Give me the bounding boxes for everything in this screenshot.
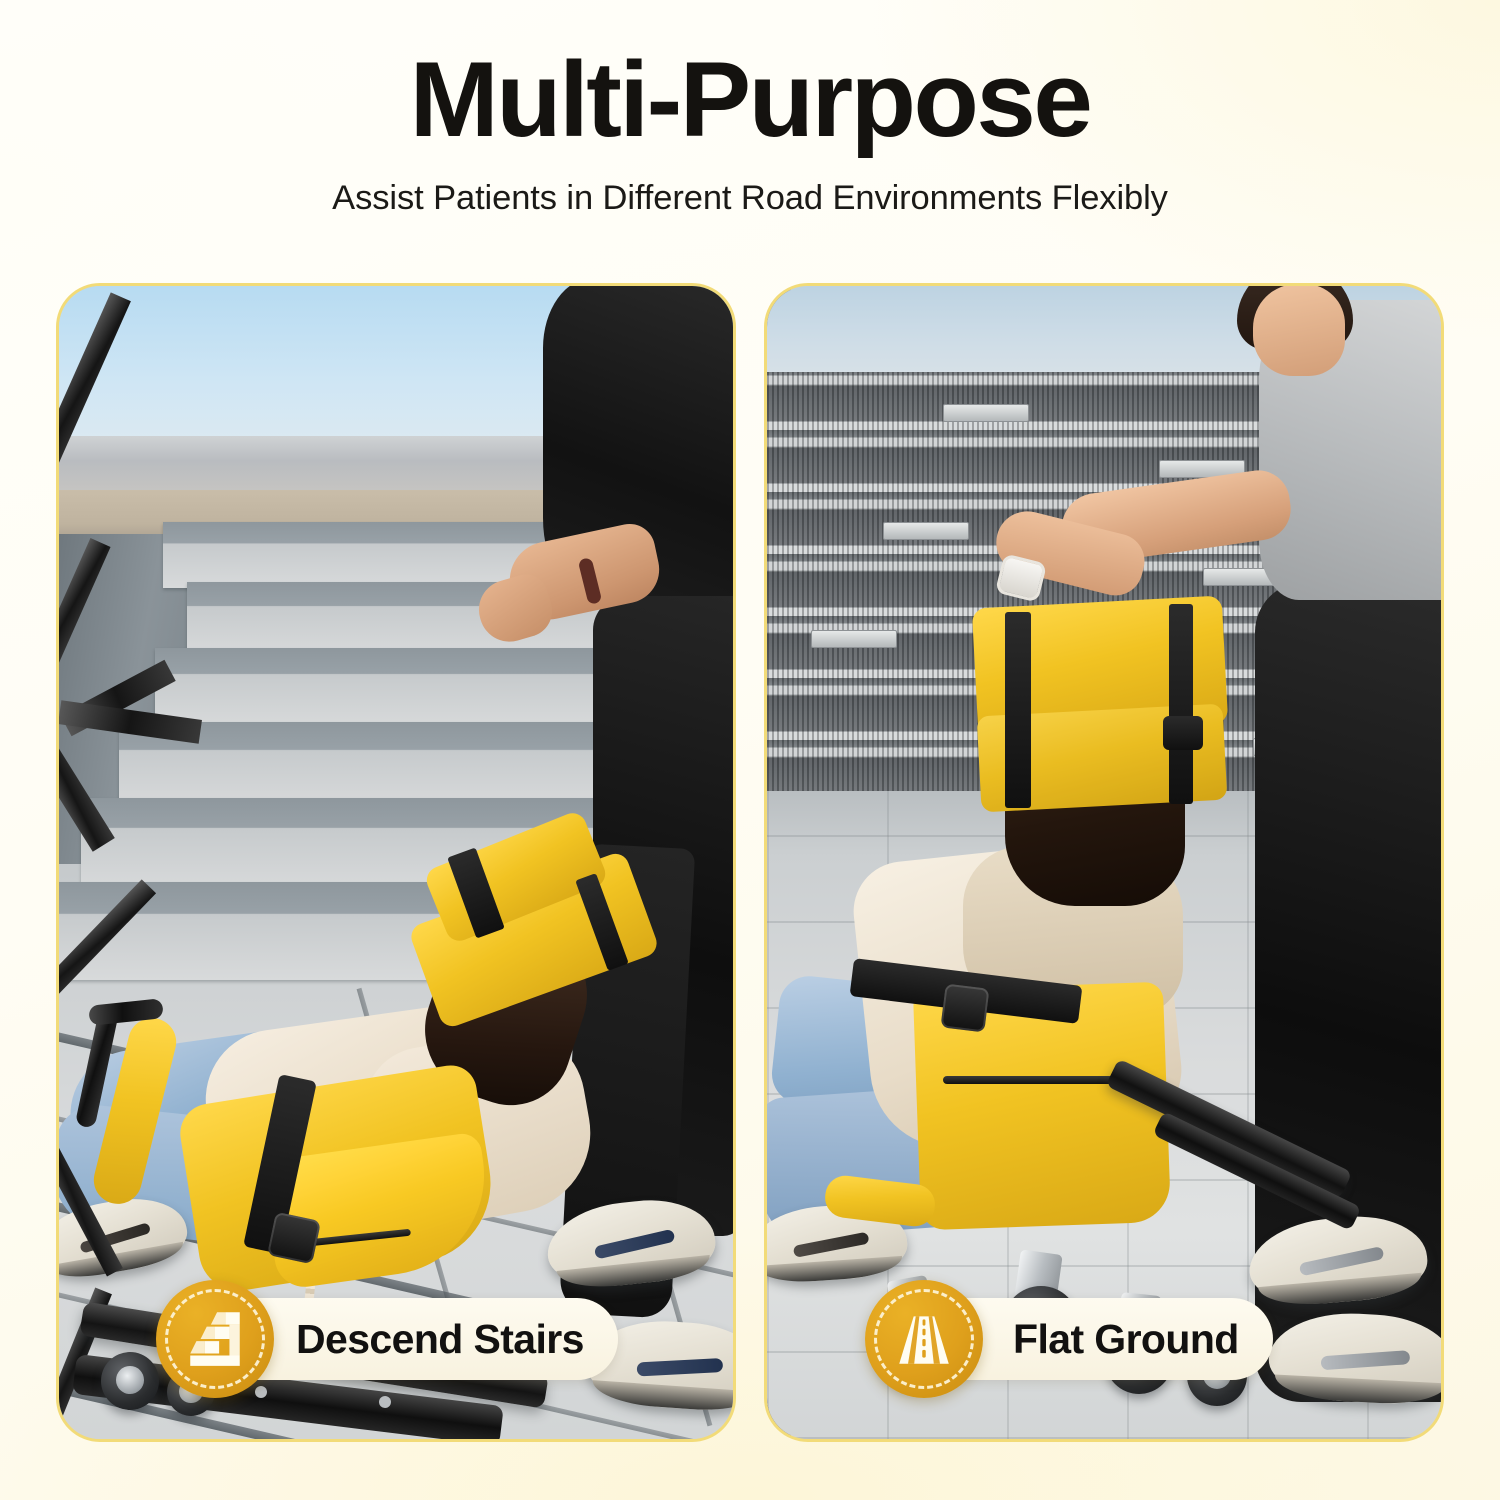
backrest-strap <box>1169 604 1193 804</box>
rear-wheel <box>101 1352 159 1410</box>
pusher-neck <box>1253 286 1345 376</box>
badge-icon-circle <box>156 1280 274 1398</box>
road-icon <box>891 1306 957 1372</box>
badge-flat-ground[interactable]: Flat Ground <box>865 1280 1273 1398</box>
badge-label: Descend Stairs <box>296 1316 584 1363</box>
shoe-stripe <box>637 1358 724 1376</box>
badge-icon-circle <box>865 1280 983 1398</box>
page-subtitle: Assist Patients in Different Road Enviro… <box>0 179 1500 218</box>
shoe-stripe <box>594 1229 676 1260</box>
stairs-descending-icon <box>182 1306 248 1372</box>
page-title: Multi-Purpose <box>0 46 1500 153</box>
step-vent-plate <box>943 404 1029 422</box>
shoe-stripe <box>793 1231 870 1257</box>
step-vent-plate <box>811 630 897 648</box>
photo-panel-descend-stairs: Descend Stairs <box>56 283 736 1442</box>
badge-label: Flat Ground <box>1013 1316 1239 1363</box>
shoe-stripe <box>1298 1246 1384 1277</box>
backrest-strap <box>1005 612 1031 808</box>
seat-zipper <box>943 1076 1129 1084</box>
photo-panel-flat-ground: Flat Ground <box>764 283 1444 1442</box>
product-feature-graphic: Multi-Purpose Assist Patients in Differe… <box>0 0 1500 1500</box>
header: Multi-Purpose Assist Patients in Differe… <box>0 0 1500 218</box>
shoe-stripe <box>1321 1350 1411 1370</box>
strap-buckle <box>267 1212 321 1265</box>
backrest-strap-tab <box>1163 716 1203 750</box>
badge-descend-stairs[interactable]: Descend Stairs <box>156 1280 618 1398</box>
strap-buckle <box>940 983 989 1032</box>
photo-descend-stairs <box>59 286 733 1439</box>
step-vent-plate <box>883 522 969 540</box>
photo-flat-ground <box>767 286 1441 1439</box>
